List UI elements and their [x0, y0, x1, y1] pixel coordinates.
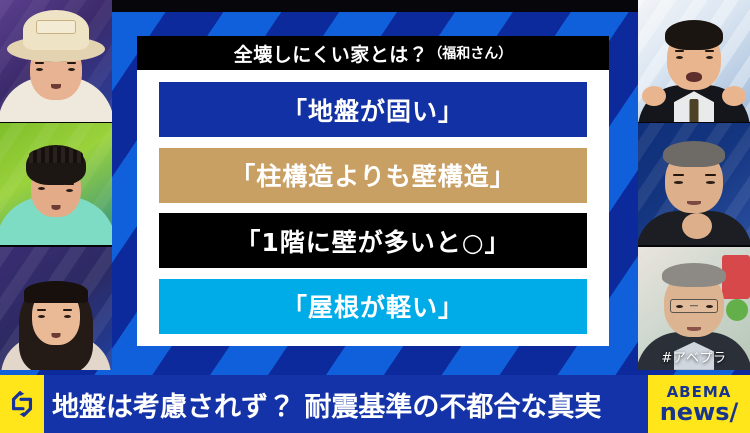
hair: [665, 20, 723, 50]
participant-column-right: #アベプラ: [638, 0, 750, 370]
broadcast-screen: #アベプラ 全壊しにくい家とは？ （福和さん） 「地盤が固い」 「柱構造よりも壁…: [0, 0, 750, 433]
background-decor: [726, 299, 748, 321]
eye-right: [64, 315, 71, 318]
brow-right: [67, 62, 76, 64]
telop-item-1: 「地盤が固い」: [159, 82, 587, 137]
hat-patch: [36, 20, 76, 34]
mouth: [687, 327, 701, 331]
program-hashtag: #アベプラ: [638, 347, 750, 366]
participant-column-left: [0, 0, 112, 370]
hair-braids: [29, 147, 83, 163]
brow-left: [673, 174, 684, 176]
mouth: [52, 333, 61, 338]
channel-logo-line2: news/: [660, 400, 739, 424]
brow-left: [675, 50, 684, 52]
participant-right-1[interactable]: [638, 0, 750, 123]
mouth: [51, 84, 61, 89]
lower-third-banner: 地盤は考慮されず？ 耐震基準の不都合な真実 ABEMA news/: [0, 375, 750, 433]
telop-title-sub: （福和さん）: [428, 43, 512, 63]
telop-item-4-label: 「屋根が軽い」: [282, 288, 464, 324]
hand-left: [642, 86, 666, 106]
telop-card: 「地盤が固い」 「柱構造よりも壁構造」 「1階に壁が多いと○」 「屋根が軽い」: [137, 70, 609, 346]
participant-right-2[interactable]: [638, 123, 750, 246]
telop-item-3-label: 「1階に壁が多いと○」: [235, 223, 510, 259]
hair-grey: [662, 263, 726, 287]
refresh-cycle-icon: [0, 375, 44, 433]
eye-left: [676, 305, 683, 308]
eye-right: [706, 181, 715, 184]
channel-logo: ABEMA news/: [648, 375, 750, 433]
telop-item-1-label: 「地盤が固い」: [282, 92, 464, 128]
brow-left: [37, 309, 46, 311]
brow-left: [35, 62, 44, 64]
participant-left-1[interactable]: [0, 0, 112, 123]
brow-right: [63, 309, 72, 311]
telop-item-3: 「1階に壁が多いと○」: [159, 213, 587, 268]
eye-right: [706, 305, 713, 308]
participant-left-2[interactable]: [0, 123, 112, 246]
telop-item-2-label: 「柱構造よりも壁構造」: [230, 157, 516, 193]
hair-grey: [663, 141, 725, 167]
eye-left: [676, 56, 683, 59]
top-black-bar: [96, 0, 656, 12]
background-poster: [722, 255, 750, 299]
brow-right: [705, 174, 716, 176]
lower-third-headline: 地盤は考慮されず？ 耐震基準の不都合な真実: [52, 375, 644, 433]
eye-left: [38, 315, 45, 318]
telop-item-4: 「屋根が軽い」: [159, 279, 587, 334]
eye-right: [706, 56, 713, 59]
mouth: [687, 201, 701, 205]
telop-title-bar: 全壊しにくい家とは？ （福和さん）: [137, 36, 609, 70]
hair-fringe: [24, 281, 88, 303]
brow-right: [705, 50, 714, 52]
eye-left: [674, 181, 683, 184]
telop-title-main: 全壊しにくい家とは？: [234, 40, 429, 67]
mouth-open: [686, 72, 702, 82]
participant-left-3[interactable]: [0, 247, 112, 370]
eye-left: [36, 68, 43, 71]
mouth: [52, 205, 61, 210]
necktie: [690, 99, 699, 123]
hand-right: [722, 86, 746, 106]
telop-item-2: 「柱構造よりも壁構造」: [159, 148, 587, 203]
eye-right: [68, 68, 75, 71]
